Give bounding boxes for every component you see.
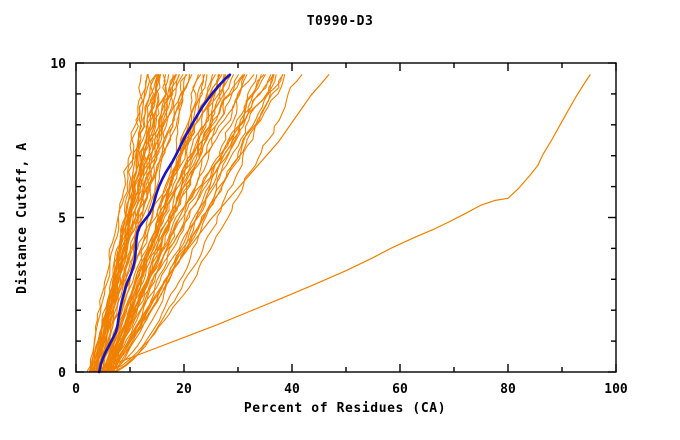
plot-canvas: 0204060801000510 Percent of Residues (CA… [0,0,680,440]
x-axis-title: Percent of Residues (CA) [244,401,446,416]
x-tick-label: 0 [72,382,80,397]
x-tick-label: 20 [176,382,192,397]
chart-figure: T0990-D3 0204060801000510 Percent of Res… [0,0,680,440]
y-tick-label: 0 [58,366,66,381]
x-tick-label: 60 [392,382,408,397]
y-axis-title: Distance Cutoff, A [15,142,30,294]
x-tick-label: 100 [604,382,628,397]
y-tick-label: 5 [58,212,66,227]
curves-layer [87,75,590,372]
x-tick-label: 40 [284,382,300,397]
plot-frame [76,63,616,372]
y-tick-label: 10 [50,57,66,72]
axis-frame-layer [76,63,616,372]
x-tick-label: 80 [500,382,516,397]
